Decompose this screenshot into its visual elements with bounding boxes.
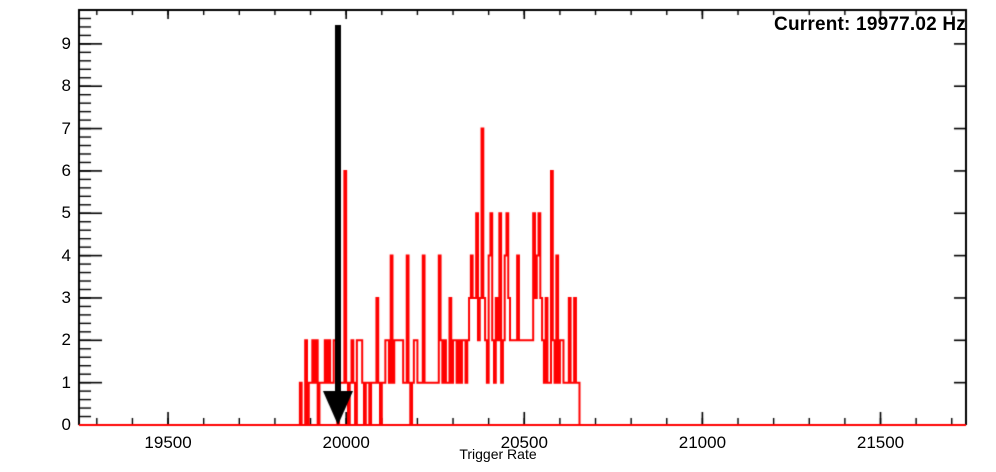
y-tick-label: 5 — [43, 203, 71, 223]
y-tick-label: 0 — [43, 415, 71, 435]
x-tick-label: 21000 — [679, 433, 726, 453]
trigger-rate-histogram-canvas[interactable] — [0, 0, 996, 472]
y-tick-label: 7 — [43, 119, 71, 139]
x-tick-label: 19500 — [144, 433, 191, 453]
x-tick-label: 21500 — [857, 433, 904, 453]
x-tick-label: 20500 — [501, 433, 548, 453]
current-rate-label: Current: 19977.02 Hz — [774, 14, 966, 36]
y-tick-label: 4 — [43, 246, 71, 266]
y-tick-label: 8 — [43, 76, 71, 96]
y-tick-label: 6 — [43, 161, 71, 181]
y-tick-label: 1 — [43, 373, 71, 393]
x-tick-label: 20000 — [323, 433, 370, 453]
histogram-screenshot: Current: 19977.02 Hz Trigger Rate 195002… — [0, 0, 996, 472]
y-tick-label: 2 — [43, 330, 71, 350]
y-tick-label: 9 — [43, 34, 71, 54]
y-tick-label: 3 — [43, 288, 71, 308]
